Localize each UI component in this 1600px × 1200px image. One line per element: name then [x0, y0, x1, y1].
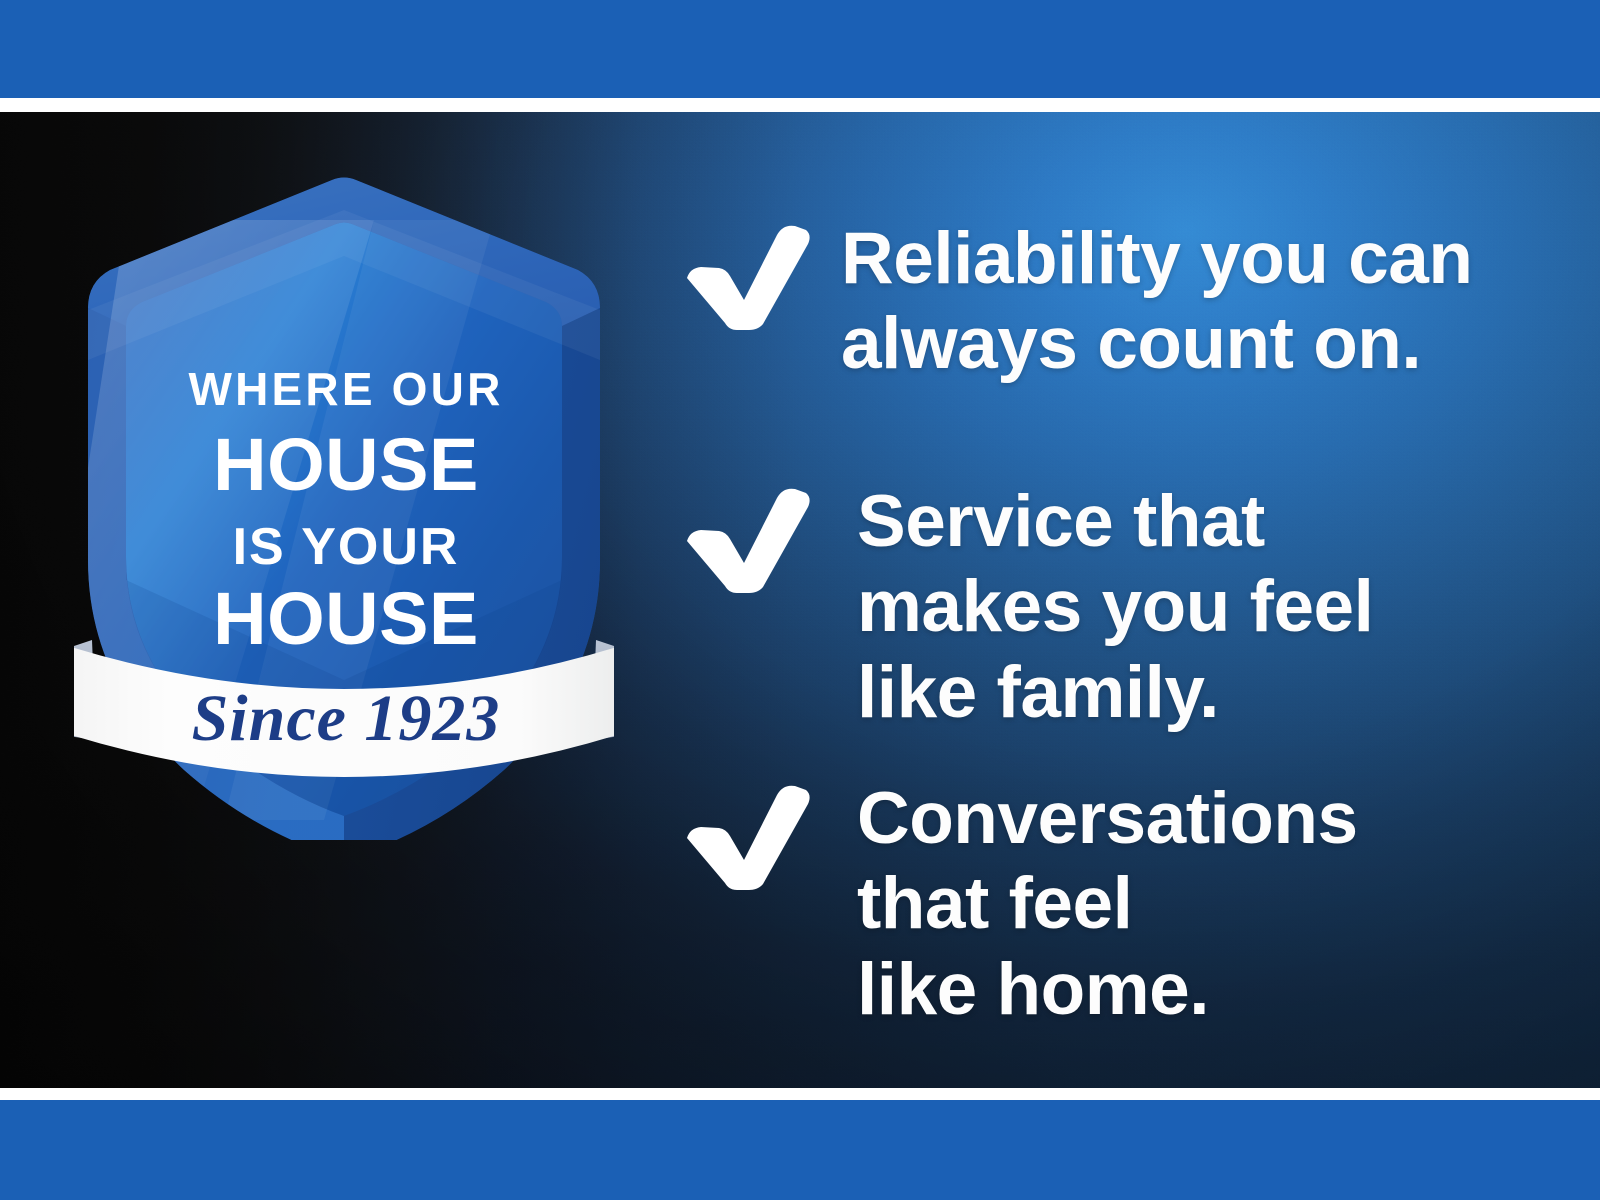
- benefits-list: Reliability you can always count on. Ser…: [675, 112, 1555, 1088]
- bottom-brand-bar: [0, 1100, 1600, 1200]
- banner-text: Since 1923: [192, 682, 501, 755]
- shield-logo: WHERE OUR HOUSE IS YOUR HOUSE Since 1923: [74, 160, 614, 840]
- check-icon: [675, 475, 815, 593]
- shield-line-0: WHERE OUR: [188, 363, 503, 415]
- check-icon: [675, 212, 815, 330]
- shield-line-3: HOUSE: [213, 577, 479, 660]
- check-icon: [675, 772, 815, 890]
- shield-line-1: HOUSE: [213, 423, 479, 506]
- list-item-label: Conversations that feel like home.: [857, 776, 1358, 1032]
- list-item: Reliability you can always count on.: [675, 212, 1472, 387]
- list-item: Conversations that feel like home.: [675, 772, 1358, 1032]
- shield-line-2: IS YOUR: [233, 518, 460, 576]
- promo-graphic-canvas: WHERE OUR HOUSE IS YOUR HOUSE Since 1923: [0, 0, 1600, 1200]
- list-item-label: Service that makes you feel like family.: [857, 479, 1373, 735]
- list-item-label: Reliability you can always count on.: [841, 216, 1472, 387]
- list-item: Service that makes you feel like family.: [675, 475, 1373, 735]
- top-brand-bar: [0, 0, 1600, 98]
